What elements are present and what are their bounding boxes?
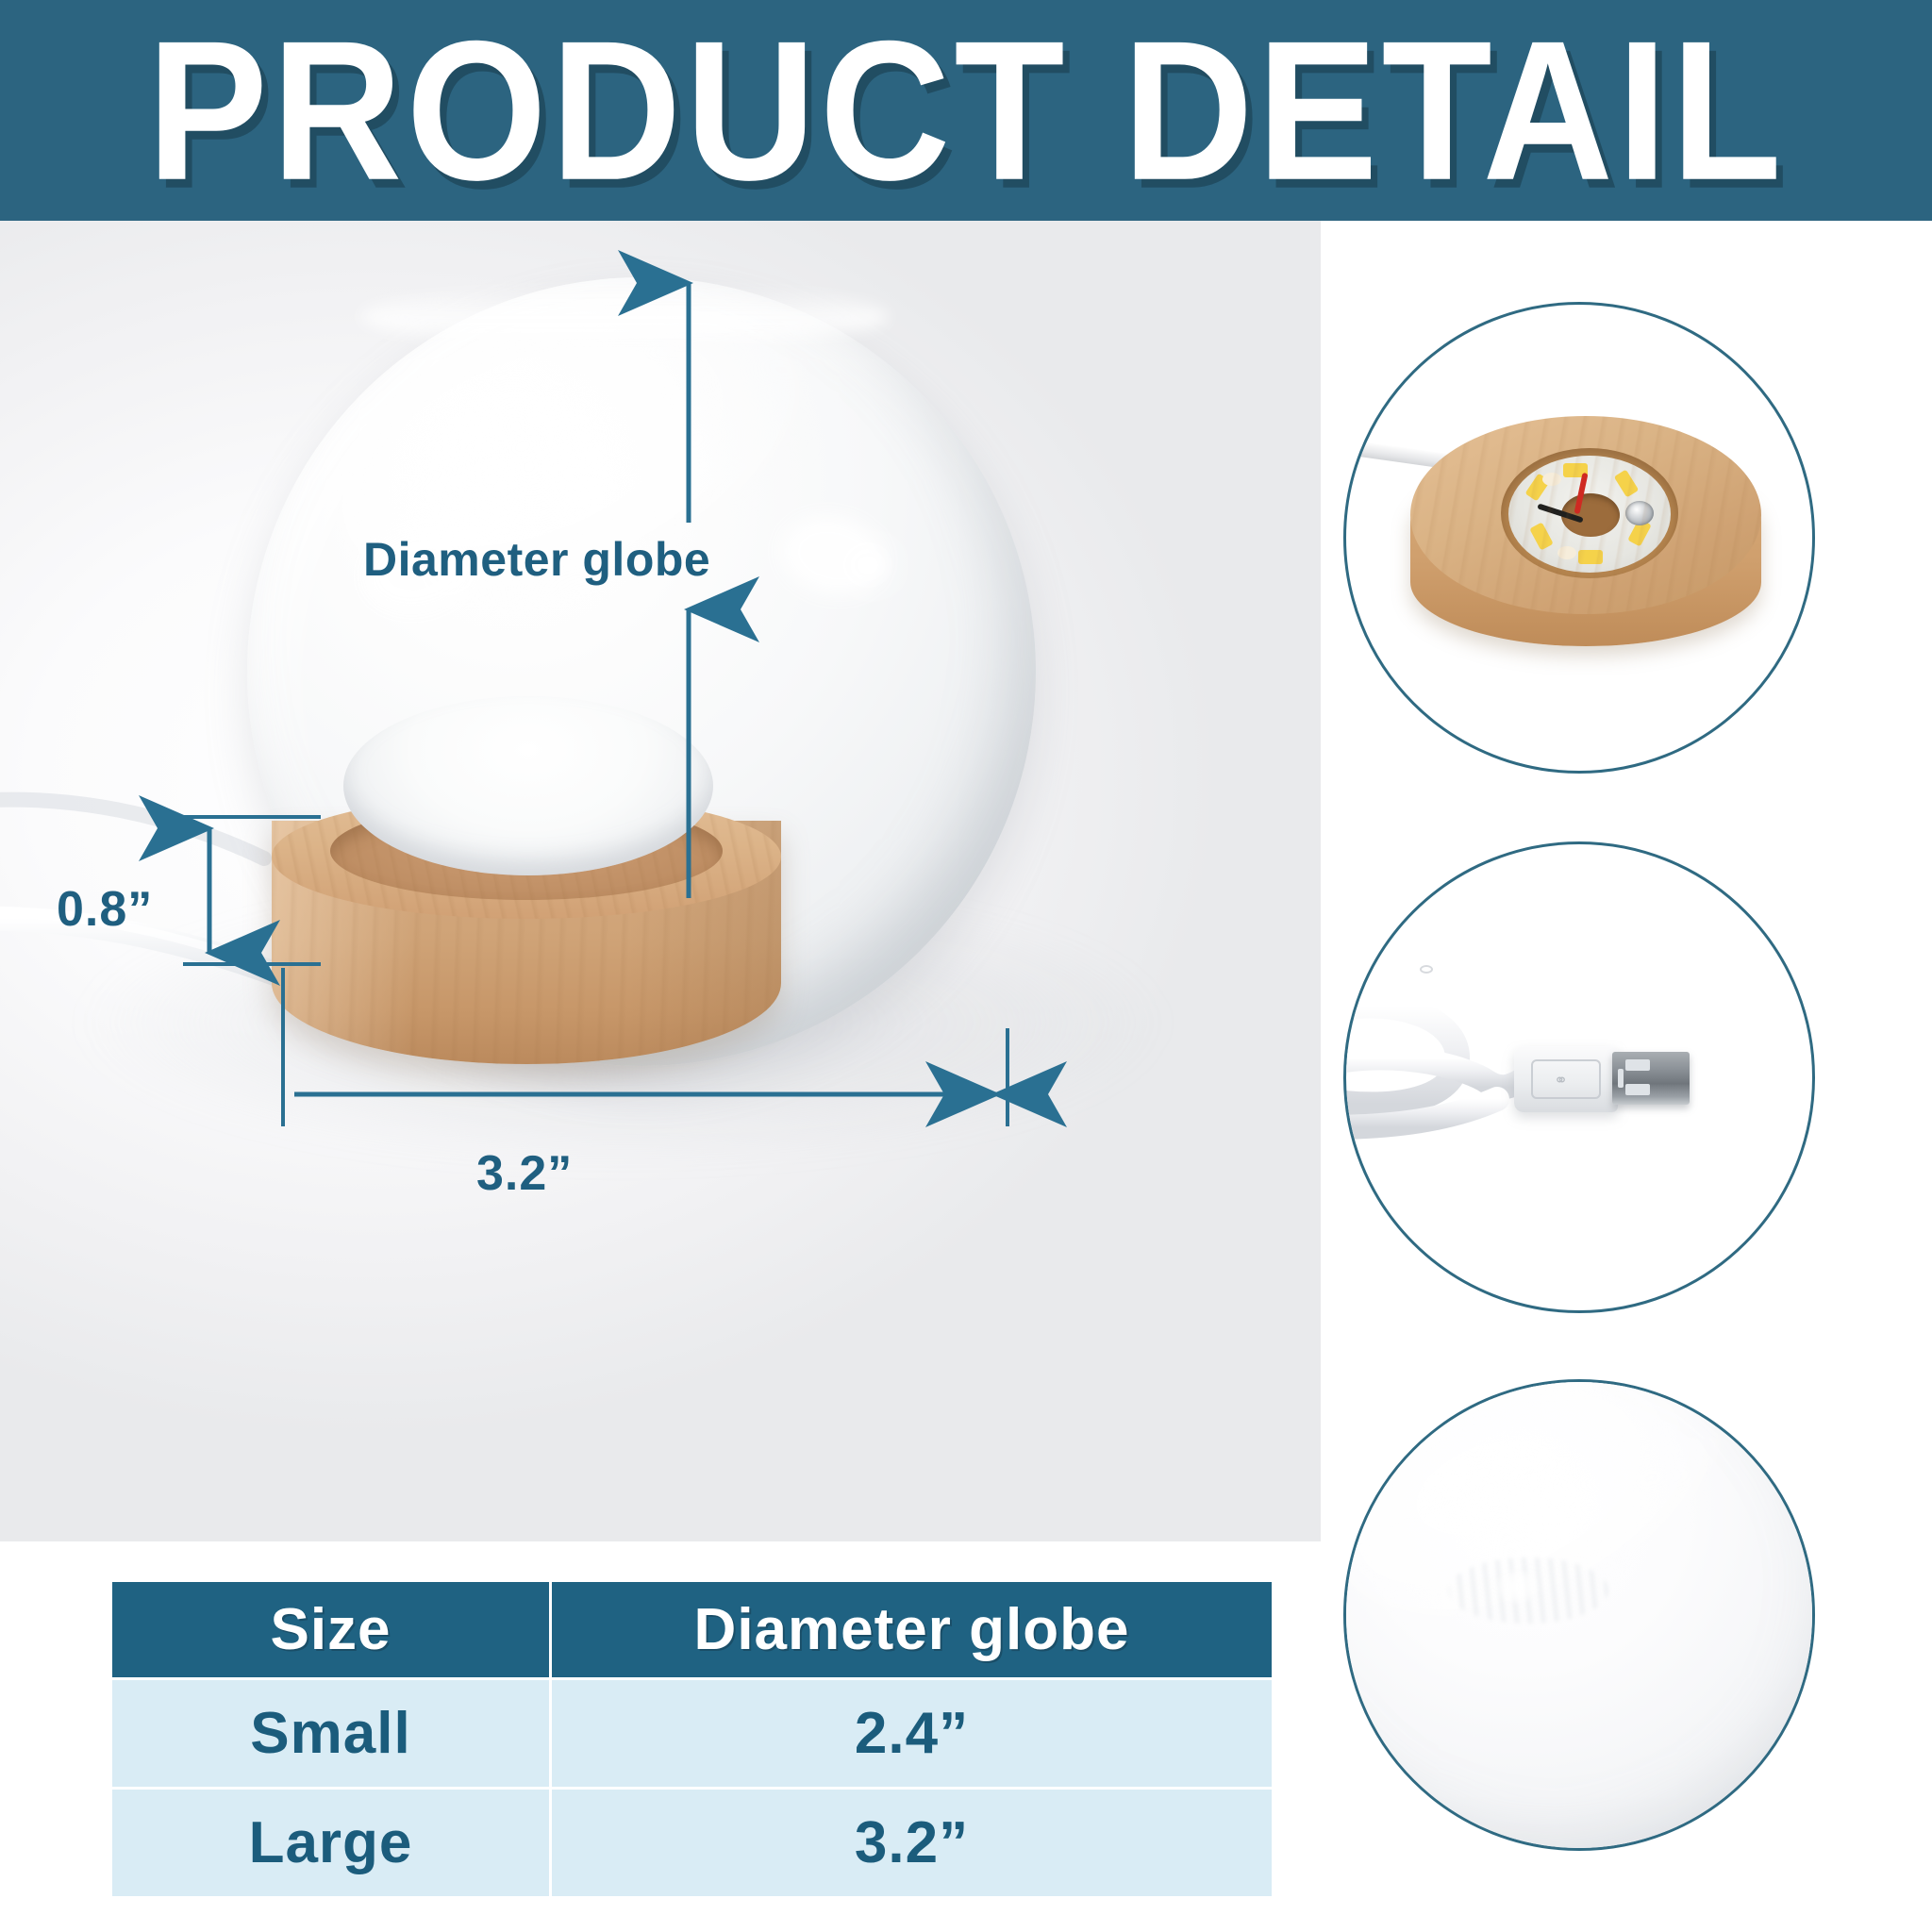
usb-inset-dot (1420, 965, 1433, 974)
led-pcb-hole (1557, 546, 1576, 559)
usb-a-connector: ⚭ (1514, 1039, 1686, 1118)
led-chip (1563, 463, 1588, 477)
led-base-face (1410, 416, 1761, 614)
crystal-ball-surface (1343, 1379, 1815, 1851)
table-header-diameter: Diameter globe (551, 1581, 1274, 1679)
usb-pin (1618, 1069, 1624, 1088)
globe-bottom-in-base (343, 696, 713, 875)
led-screw (1625, 501, 1654, 525)
size-table: Size Diameter globe Small 2.4” Large 3.2… (109, 1579, 1274, 1899)
diameter-dimension-label: Diameter globe (363, 532, 710, 587)
globe-highlight-right-core (847, 547, 889, 583)
cell-size-small: Small (111, 1679, 551, 1789)
height-dimension-label: 0.8” (57, 881, 153, 938)
cell-diameter-small: 2.4” (551, 1679, 1274, 1789)
globe-top-edge-highlight (360, 283, 889, 349)
width-dimension-label: 3.2” (476, 1145, 573, 1202)
cell-diameter-large: 3.2” (551, 1789, 1274, 1898)
led-pcb-hole (1542, 473, 1561, 486)
led-chip (1525, 474, 1551, 502)
inset-usb-connector: ⚭ (1343, 841, 1815, 1313)
led-black-wire (1537, 503, 1583, 523)
page-title: PRODUCT DETAIL (42, 21, 1890, 200)
cell-size-large: Large (111, 1789, 551, 1898)
led-chip (1578, 550, 1603, 564)
product-photo-stage: Diameter globe 0.8” 3.2” (0, 221, 1321, 1541)
wooden-led-base (272, 794, 781, 1096)
led-chip (1627, 519, 1651, 547)
header-banner: PRODUCT DETAIL (0, 0, 1932, 221)
led-chip (1529, 523, 1553, 551)
table-header-row: Size Diameter globe (111, 1581, 1274, 1679)
crystal-ball-specular-spot (1495, 1571, 1539, 1603)
usb-logo-icon: ⚭ (1554, 1073, 1582, 1088)
led-chip (1614, 470, 1639, 498)
usb-connector-shell: ⚭ (1514, 1046, 1618, 1112)
led-red-wire (1574, 473, 1588, 514)
product-detail-page: PRODUCT DETAIL (0, 0, 1932, 1932)
inset-led-base (1343, 302, 1815, 774)
usb-metal-plug (1612, 1052, 1690, 1105)
usb-pin (1625, 1059, 1650, 1071)
led-pcb (1508, 456, 1671, 573)
led-base-disc (1410, 416, 1761, 669)
usb-pin (1625, 1084, 1650, 1095)
table-header-size: Size (111, 1581, 551, 1679)
led-pcb-center-hole (1561, 493, 1620, 537)
page-title-text: PRODUCT DETAIL (147, 10, 1786, 211)
table-row: Large 3.2” (111, 1789, 1274, 1898)
inset-crystal-ball (1343, 1379, 1815, 1851)
table-row: Small 2.4” (111, 1679, 1274, 1789)
led-base-cavity (1501, 448, 1678, 578)
